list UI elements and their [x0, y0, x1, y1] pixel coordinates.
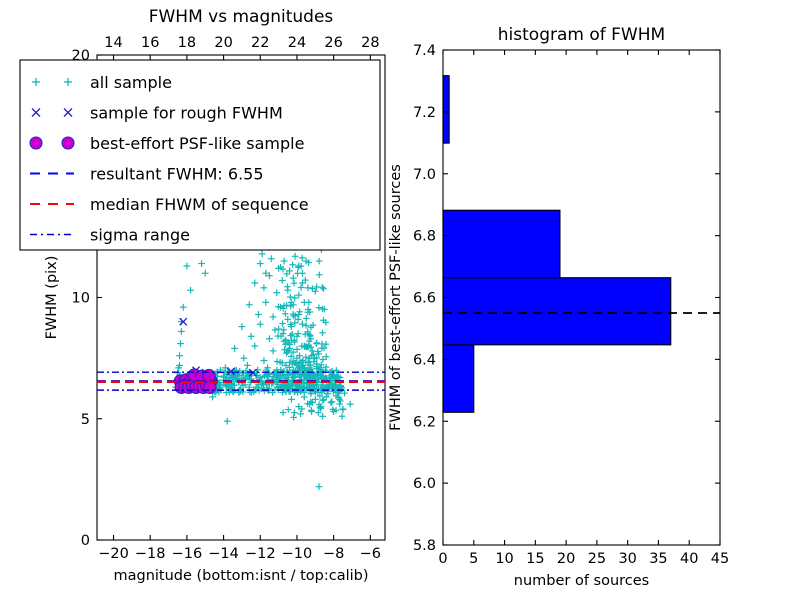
xtick-top-label: 20 — [214, 35, 232, 51]
xtick-top-label: 24 — [288, 35, 306, 51]
legend-item-label: best-effort PSF-like sample — [90, 134, 304, 153]
figure-canvas: −20−18−16−14−12−10−8−6141618202224262805… — [0, 0, 800, 600]
chart-svg: −20−18−16−14−12−10−8−6141618202224262805… — [0, 0, 800, 600]
ytick-label: 10 — [72, 291, 90, 307]
hist-ytick-label: 7.2 — [413, 105, 436, 121]
xtick-top-label: 18 — [178, 35, 196, 51]
hist-xtick-label: 40 — [680, 551, 698, 567]
xtick-top-label: 28 — [361, 35, 379, 51]
hist-ytick-label: 6.4 — [413, 352, 436, 368]
histogram-bar — [443, 210, 560, 277]
left-panel-ylabel: FWHM (pix) — [44, 256, 60, 340]
xtick-bottom-label: −18 — [135, 546, 166, 562]
legend-frame — [20, 60, 380, 250]
xtick-bottom-label: −8 — [323, 546, 344, 562]
xtick-bottom-label: −6 — [360, 546, 381, 562]
hist-xtick-label: 10 — [495, 551, 513, 567]
right-panel-xlabel: number of sources — [514, 573, 650, 589]
xtick-bottom-label: −10 — [282, 546, 313, 562]
ytick-label: 0 — [81, 533, 90, 549]
hist-ytick-label: 5.8 — [413, 538, 436, 554]
xtick-top-label: 26 — [324, 35, 342, 51]
xtick-top-label: 14 — [104, 35, 122, 51]
marker-circle-icon — [203, 369, 215, 381]
hist-ytick-label: 7.0 — [413, 167, 436, 183]
xtick-bottom-label: −16 — [172, 546, 203, 562]
hist-xtick-label: 45 — [711, 551, 729, 567]
histogram-bar — [443, 76, 449, 143]
legend-box-container: all samplesample for rough FWHMbest-effo… — [20, 60, 380, 250]
left-panel-xlabel: magnitude (bottom:isnt / top:calib) — [113, 568, 368, 584]
xtick-top-label: 16 — [141, 35, 159, 51]
right-panel-title: histogram of FWHM — [498, 25, 665, 45]
legend-item-label: sample for rough FWHM — [90, 104, 283, 123]
left-panel-title: FWHM vs magnitudes — [149, 7, 334, 27]
hist-ytick-label: 6.2 — [413, 414, 436, 430]
hist-xtick-label: 0 — [438, 551, 447, 567]
hist-xtick-label: 30 — [618, 551, 636, 567]
hist-xtick-label: 35 — [649, 551, 667, 567]
legend-item-label: all sample — [90, 73, 172, 92]
legend-item-label: median FHWM of sequence — [90, 195, 309, 214]
legend-item-label: sigma range — [90, 226, 190, 245]
histogram-bar — [443, 278, 671, 345]
hist-ytick-label: 6.6 — [413, 291, 436, 307]
xtick-bottom-label: −20 — [98, 546, 129, 562]
xtick-bottom-label: −14 — [208, 546, 239, 562]
right-panel-histogram: 0510152025303540455.86.06.26.46.66.87.07… — [388, 25, 729, 589]
hist-xtick-label: 25 — [588, 551, 606, 567]
hist-xtick-label: 20 — [557, 551, 575, 567]
hist-ytick-label: 6.8 — [413, 229, 436, 245]
hist-xtick-label: 5 — [469, 551, 478, 567]
xtick-bottom-label: −12 — [245, 546, 276, 562]
xtick-top-label: 22 — [251, 35, 269, 51]
legend-circle-icon — [30, 137, 42, 149]
legend-item-label: resultant FWHM: 6.55 — [90, 165, 264, 184]
right-panel-ylabel: FWHM of best-effort PSF-like sources — [388, 164, 404, 431]
legend-circle-icon — [62, 137, 74, 149]
histogram-bar — [443, 345, 474, 412]
hist-xtick-label: 15 — [526, 551, 544, 567]
ytick-label: 5 — [81, 412, 90, 428]
hist-ytick-label: 7.4 — [413, 43, 436, 59]
hist-ytick-label: 6.0 — [413, 476, 436, 492]
